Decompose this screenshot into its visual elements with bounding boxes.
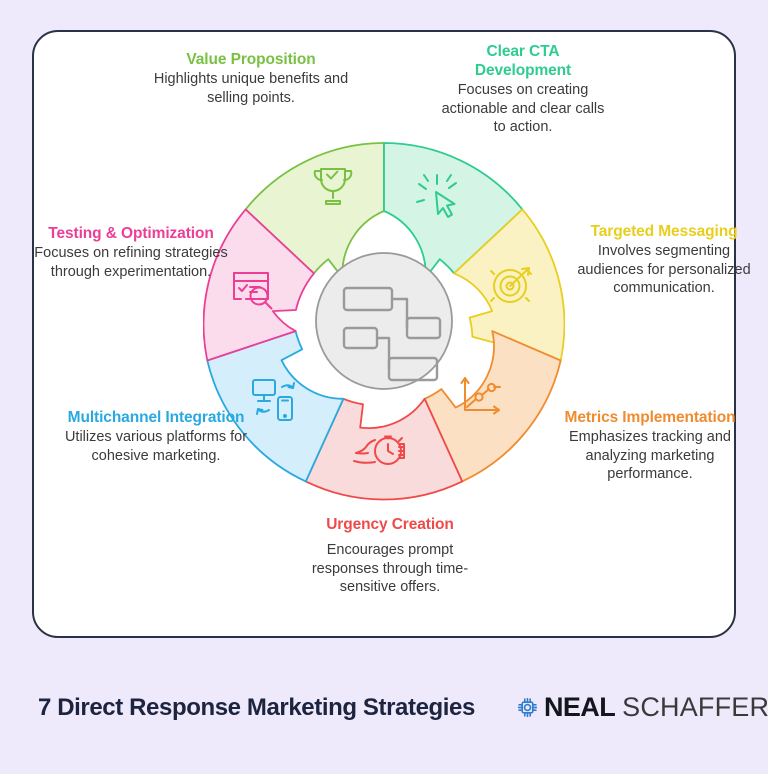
label-title: Clear CTA Development: [440, 42, 606, 80]
strategy-wheel: [203, 140, 565, 502]
label-multichannel-integration: Multichannel Integration Utilizes variou…: [56, 408, 256, 465]
label-title: Metrics Implementation: [545, 408, 755, 427]
infographic-page: Value Proposition Highlights unique bene…: [0, 0, 768, 774]
footer-title: 7 Direct Response Marketing Strategies: [38, 694, 475, 722]
label-title: Targeted Messaging: [568, 222, 760, 241]
label-description: Involves segmenting audiences for person…: [568, 242, 760, 298]
label-testing-optimization: Testing & Optimization Focuses on refini…: [32, 224, 230, 281]
label-description: Emphasizes tracking and analyzing market…: [545, 428, 755, 484]
label-targeted-messaging: Targeted Messaging Involves segmenting a…: [568, 222, 760, 298]
label-value-proposition: Value Proposition Highlights unique bene…: [140, 50, 362, 107]
chip-gear-icon: [516, 696, 539, 719]
label-description: Focuses on creating actionable and clear…: [440, 81, 606, 137]
logo-name-light: SCHAFFER: [622, 694, 768, 721]
label-description: Encourages prompt responses through time…: [292, 541, 488, 597]
label-title: Testing & Optimization: [32, 224, 230, 243]
label-description: Highlights unique benefits and selling p…: [140, 70, 362, 107]
brand-logo: NEAL SCHAFFER: [516, 690, 768, 724]
label-title: Urgency Creation: [292, 515, 488, 534]
wheel-center-hub: [316, 253, 452, 389]
label-title: Value Proposition: [140, 50, 362, 69]
label-description: Utilizes various platforms for cohesive …: [56, 428, 256, 465]
label-metrics-implementation: Metrics Implementation Emphasizes tracki…: [545, 408, 755, 484]
label-title: Multichannel Integration: [56, 408, 256, 427]
label-clear-cta-development: Clear CTA Development Focuses on creatin…: [440, 42, 606, 137]
label-urgency-creation: Urgency Creation Encourages prompt respo…: [292, 515, 488, 597]
footer-bar: 7 Direct Response Marketing Strategies N…: [0, 638, 768, 774]
logo-name-bold: NEAL: [544, 694, 615, 721]
label-description: Focuses on refining strategies through e…: [32, 244, 230, 281]
